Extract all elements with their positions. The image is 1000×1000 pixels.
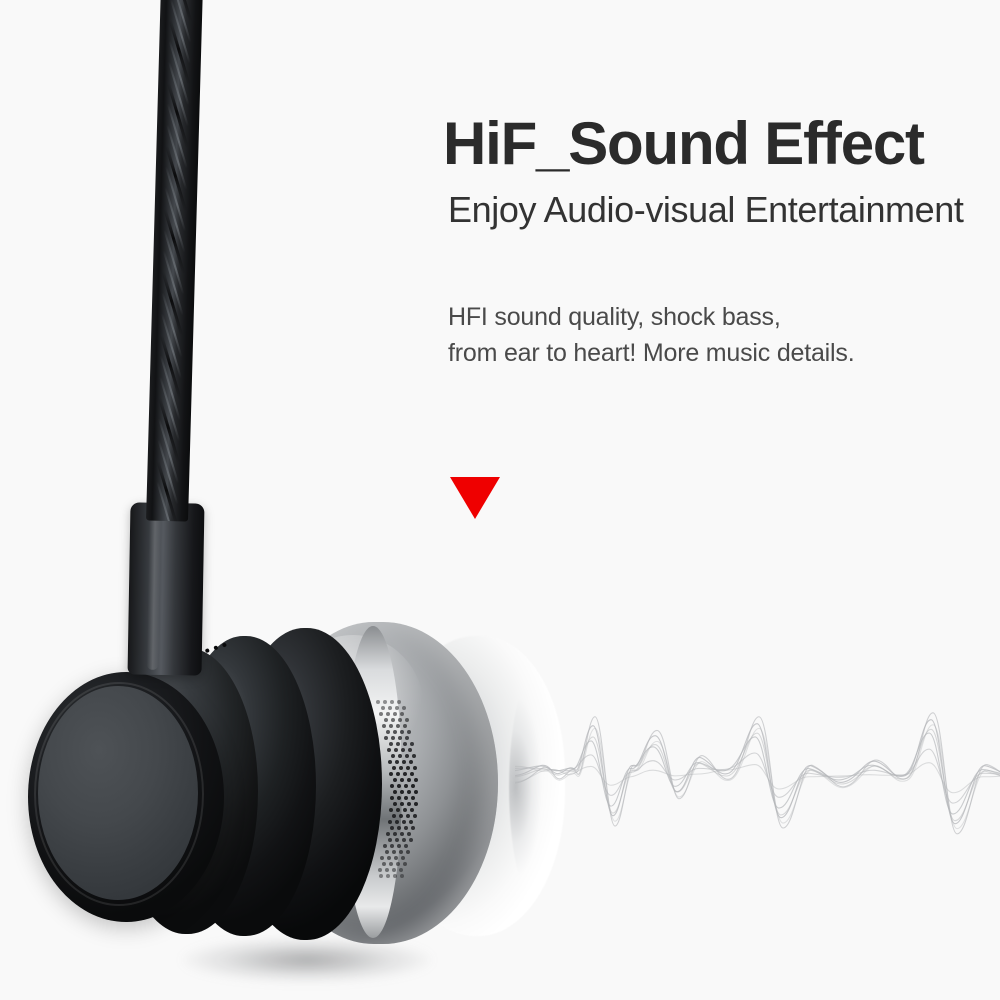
grille-perforation	[382, 724, 386, 728]
grille-perforation	[414, 802, 418, 806]
grille-perforation	[401, 856, 405, 860]
grille-perforation	[402, 838, 406, 842]
grille-perforation	[414, 778, 418, 782]
grille-perforation	[399, 814, 403, 818]
grille-perforation	[386, 730, 390, 734]
grille-perforation	[405, 736, 409, 740]
grille-perforation	[390, 796, 394, 800]
grille-perforation	[396, 742, 400, 746]
grille-perforation	[393, 730, 397, 734]
grille-perforation	[403, 742, 407, 746]
grille-perforation	[406, 850, 410, 854]
grille-perforation	[414, 790, 418, 794]
grille-perforation	[402, 760, 406, 764]
grille-perforation	[391, 718, 395, 722]
grille-perforation	[407, 778, 411, 782]
grille-perforation	[411, 796, 415, 800]
grille-perforation	[397, 700, 401, 704]
grille-perforation	[396, 724, 400, 728]
grille-perforation	[410, 772, 414, 776]
grille-perforation	[397, 784, 401, 788]
grille-perforation	[393, 778, 397, 782]
grille-perforation	[398, 718, 402, 722]
grille-perforation	[383, 844, 387, 848]
grille-perforation	[411, 784, 415, 788]
triangle-down-icon	[450, 477, 500, 519]
grille-perforation	[396, 772, 400, 776]
soundwave-strand	[515, 763, 1000, 793]
grille-perforation	[395, 706, 399, 710]
back-cap-rim	[34, 682, 204, 906]
grille-perforation	[410, 742, 414, 746]
grille-perforation	[386, 712, 390, 716]
soundwave-strand	[515, 749, 1000, 803]
grille-perforation	[392, 868, 396, 872]
grille-perforation	[385, 850, 389, 854]
grille-perforation	[400, 778, 404, 782]
grille-perforation	[387, 748, 391, 752]
grille-perforation	[388, 820, 392, 824]
soundwave-graphic	[515, 672, 1000, 892]
grille-perforation	[389, 808, 393, 812]
grille-perforation	[390, 844, 394, 848]
grille-perforation	[403, 772, 407, 776]
grille-perforation	[392, 850, 396, 854]
grille-perforation	[409, 838, 413, 842]
grille-perforation	[386, 874, 390, 878]
soundwave-strand	[515, 725, 1000, 829]
grille-perforation	[401, 748, 405, 752]
grille-perforation	[380, 856, 384, 860]
grille-perforation	[378, 868, 382, 872]
grille-perforation	[391, 754, 395, 758]
grille-perforation	[379, 712, 383, 716]
grille-perforation	[383, 700, 387, 704]
grille-perforation	[388, 760, 392, 764]
grille-perforation	[393, 874, 397, 878]
grille-perforation	[407, 730, 411, 734]
grille-perforation	[407, 832, 411, 836]
stem-highlight	[147, 508, 162, 670]
grille-perforation	[395, 820, 399, 824]
grille-perforation	[404, 844, 408, 848]
page-title: HiF_Sound Effect	[443, 112, 988, 175]
grille-perforation	[405, 718, 409, 722]
grille-perforation	[406, 814, 410, 818]
grille-perforation	[388, 706, 392, 710]
grille-perforation	[386, 832, 390, 836]
grille-perforation	[406, 766, 410, 770]
grille-perforation	[384, 736, 388, 740]
vent-hole	[205, 648, 210, 653]
vent-hole	[213, 645, 218, 650]
grille-perforation	[405, 754, 409, 758]
grille-perforation	[393, 712, 397, 716]
grille-perforation	[403, 862, 407, 866]
vent-hole	[222, 643, 227, 648]
grille-perforation	[385, 868, 389, 872]
grille-perforation	[409, 760, 413, 764]
grille-perforation	[408, 748, 412, 752]
grille-perforation	[403, 808, 407, 812]
grille-perforation	[400, 874, 404, 878]
grille-perforation	[393, 790, 397, 794]
product-banner: HiF_Sound Effect Enjoy Audio-visual Ente…	[0, 0, 1000, 1000]
grille-perforation	[403, 724, 407, 728]
description-line-1: HFI sound quality, shock bass,	[448, 300, 854, 336]
grille-perforation	[390, 784, 394, 788]
grille-perforation	[389, 742, 393, 746]
grille-perforation	[389, 862, 393, 866]
grille-perforation	[397, 844, 401, 848]
grille-perforation	[376, 700, 380, 704]
grille-perforation	[390, 700, 394, 704]
grille-perforation	[413, 814, 417, 818]
grille-perforation	[393, 832, 397, 836]
grille-perforation	[397, 826, 401, 830]
grille-perforation	[391, 736, 395, 740]
grille-perforation	[411, 826, 415, 830]
headline-block: HiF_Sound Effect Enjoy Audio-visual Ente…	[443, 112, 988, 232]
grille-perforation	[389, 724, 393, 728]
grille-perforation	[394, 748, 398, 752]
grille-perforation	[399, 850, 403, 854]
grille-perforation	[404, 784, 408, 788]
grille-perforation	[407, 802, 411, 806]
grille-perforation	[399, 766, 403, 770]
grille-perforation	[395, 760, 399, 764]
grille-perforation	[387, 856, 391, 860]
grille-perforation	[381, 706, 385, 710]
grille-perforation	[402, 820, 406, 824]
description-text: HFI sound quality, shock bass, from ear …	[448, 300, 854, 371]
grille-perforation	[400, 712, 404, 716]
grille-perforation	[382, 862, 386, 866]
grille-perforation	[397, 796, 401, 800]
page-subtitle: Enjoy Audio-visual Entertainment	[448, 187, 988, 232]
grille-perforation	[395, 838, 399, 842]
grille-perforation	[407, 790, 411, 794]
grille-perforation	[404, 796, 408, 800]
grille-perforation	[379, 874, 383, 878]
grille-perforation	[413, 766, 417, 770]
grille-perforation	[392, 766, 396, 770]
grille-perforation	[394, 856, 398, 860]
grille-perforation	[396, 808, 400, 812]
description-line-2: from ear to heart! More music details.	[448, 336, 854, 372]
grille-perforation	[390, 826, 394, 830]
grille-perforation	[396, 862, 400, 866]
grille-perforation	[392, 814, 396, 818]
grille-perforation	[384, 718, 388, 722]
grille-perforation	[393, 802, 397, 806]
back-cap-disc	[28, 672, 224, 922]
grille-perforation	[400, 832, 404, 836]
grille-perforation	[412, 754, 416, 758]
grille-perforation	[402, 706, 406, 710]
strain-relief-stem	[128, 502, 205, 675]
braided-cable	[146, 0, 203, 522]
grille-perforation	[398, 754, 402, 758]
grille-perforation	[399, 868, 403, 872]
grille-perforation	[409, 820, 413, 824]
grille-perforation	[388, 838, 392, 842]
grille-perforation	[400, 730, 404, 734]
grille-perforation	[389, 772, 393, 776]
grille-perforation	[400, 790, 404, 794]
grille-perforation	[410, 808, 414, 812]
grille-perforation	[398, 736, 402, 740]
product-ground-shadow	[182, 938, 432, 982]
grille-perforation	[400, 802, 404, 806]
grille-perforation	[404, 826, 408, 830]
